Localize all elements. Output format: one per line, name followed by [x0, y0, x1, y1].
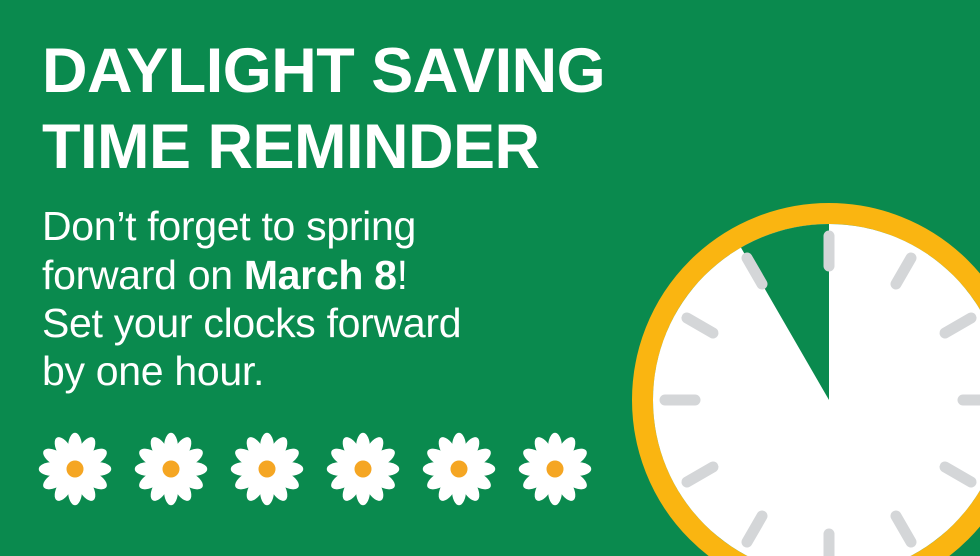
daisy-center: [162, 460, 179, 477]
daisy-flower-icon: [38, 432, 112, 506]
subcopy-line-2: forward on March 8!: [42, 251, 722, 299]
subcopy-line-4: by one hour.: [42, 347, 722, 395]
headline-line-1: DAYLIGHT SAVING: [42, 36, 605, 106]
daisy-flower-icon: [326, 432, 400, 506]
daisy-flower-icon: [230, 432, 304, 506]
subcopy-date-highlight: March 8: [244, 252, 397, 298]
daisy-center: [546, 460, 563, 477]
subcopy-line-3: Set your clocks forward: [42, 299, 722, 347]
daylight-saving-banner: DAYLIGHT SAVING TIME REMINDER Don’t forg…: [0, 0, 980, 556]
daisy-center: [66, 460, 83, 477]
daisy-flower-icon: [518, 432, 592, 506]
daisy-flower-icon: [134, 432, 208, 506]
subcopy-line-2-suffix: !: [397, 252, 408, 298]
subcopy-line-2-prefix: forward on: [42, 252, 244, 298]
daisy-center: [354, 460, 371, 477]
subcopy-line-1: Don’t forget to spring: [42, 202, 722, 250]
page-title: DAYLIGHT SAVING TIME REMINDER: [42, 34, 722, 185]
banner-copy: DAYLIGHT SAVING TIME REMINDER Don’t forg…: [42, 34, 722, 396]
headline-line-2: TIME REMINDER: [42, 112, 540, 182]
daisy-row: [38, 432, 592, 506]
clock-hour-wedge: [736, 214, 829, 400]
daisy-center: [450, 460, 467, 477]
daisy-flower-icon: [422, 432, 496, 506]
daisy-center: [258, 460, 275, 477]
subcopy: Don’t forget to spring forward on March …: [42, 202, 722, 396]
